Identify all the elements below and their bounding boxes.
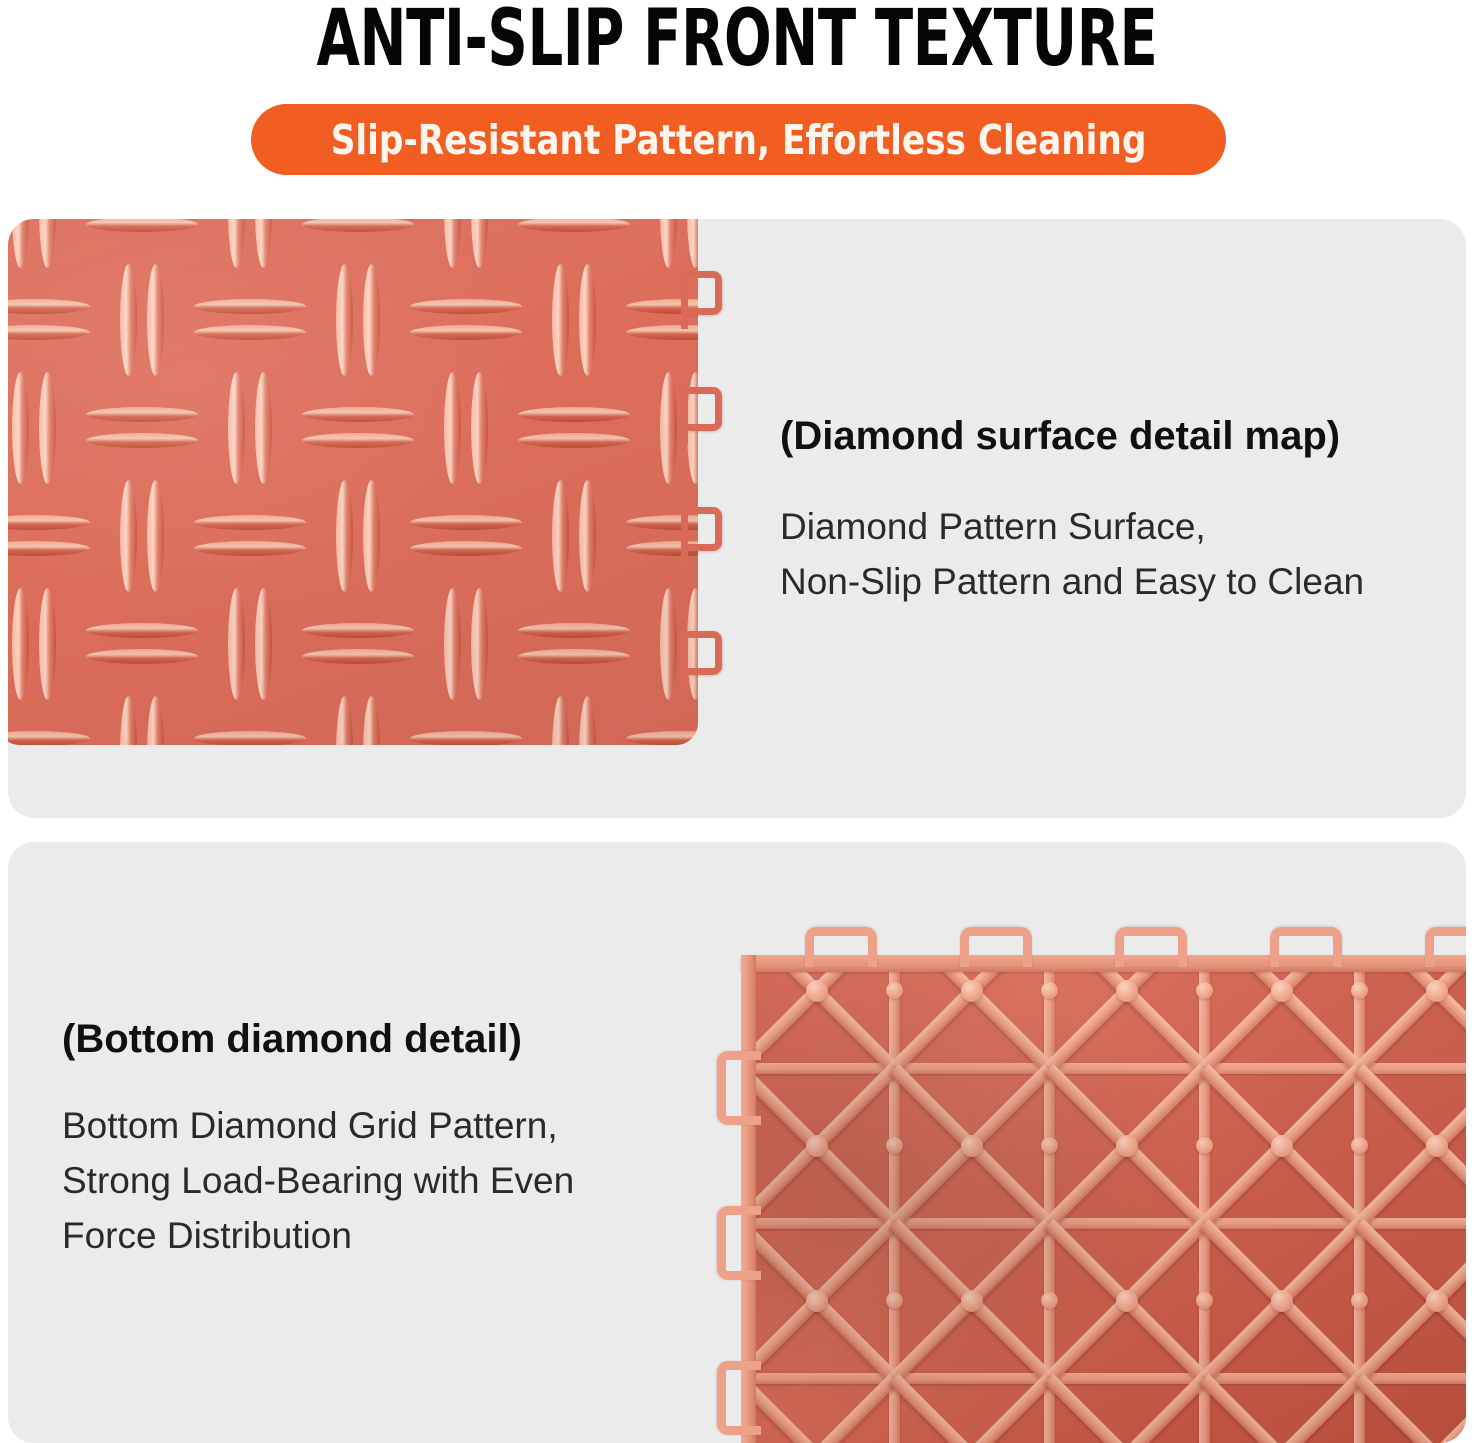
diamond-tread-icon	[12, 372, 29, 484]
diamond-tread-icon	[302, 433, 414, 448]
diamond-tread-pair	[12, 588, 56, 700]
diamond-tread-icon	[410, 325, 522, 340]
diamond-tread-icon	[39, 219, 56, 268]
grid-node	[1116, 1135, 1138, 1157]
diamond-tread-pair	[410, 731, 522, 745]
grid-node	[961, 1135, 983, 1157]
diamond-tread-icon	[86, 623, 198, 638]
diamond-tread-pair	[120, 696, 164, 745]
diamond-tread-icon	[194, 299, 306, 314]
grid-stud	[1351, 1137, 1368, 1154]
diamond-surface-description: Diamond Pattern Surface, Non-Slip Patter…	[780, 499, 1452, 609]
diamond-tread-pair	[120, 480, 164, 592]
diamond-tread-icon	[579, 264, 596, 376]
diamond-tread-pair	[302, 219, 414, 233]
diamond-tread-pair	[518, 219, 630, 233]
diamond-tread-icon	[471, 372, 488, 484]
diamond-surface-image	[8, 219, 698, 745]
diamond-tread-icon	[363, 480, 380, 592]
diamond-tread-icon	[471, 219, 488, 268]
grid-stud	[1196, 982, 1213, 999]
diamond-tread-icon	[228, 372, 245, 484]
bottom-diamond-description: Bottom Diamond Grid Pattern, Strong Load…	[62, 1098, 702, 1263]
diamond-tread-icon	[8, 325, 90, 340]
panel-diamond-surface: (Diamond surface detail map) Diamond Pat…	[8, 219, 1466, 818]
grid-node	[1271, 980, 1293, 1002]
grid-stud	[886, 1137, 903, 1154]
diamond-tread-pair	[228, 219, 272, 268]
diamond-tread-pair	[444, 219, 488, 268]
diamond-tread-icon	[363, 696, 380, 745]
diamond-tread-icon	[444, 219, 461, 268]
grid-stud	[1196, 1137, 1213, 1154]
grid-node	[1426, 980, 1448, 1002]
diamond-tread-pair	[86, 407, 198, 449]
connector-tab-icon	[688, 387, 722, 431]
diamond-surface-text-block: (Diamond surface detail map) Diamond Pat…	[780, 411, 1452, 609]
bottom-grid-pattern	[741, 971, 1466, 1443]
diamond-tread-icon	[518, 407, 630, 422]
diamond-tread-icon	[336, 696, 353, 745]
diamond-tread-icon	[410, 515, 522, 530]
grid-rib-diagonal	[889, 1373, 1053, 1443]
grid-stud	[1196, 1292, 1213, 1309]
grid-rib-diagonal	[1199, 1373, 1363, 1443]
connector-tab-icon	[688, 271, 722, 315]
grid-stud	[1351, 1292, 1368, 1309]
diamond-tread-icon	[518, 649, 630, 664]
diamond-tread-icon	[444, 372, 461, 484]
diamond-tread-icon	[302, 623, 414, 638]
description-line: Bottom Diamond Grid Pattern,	[62, 1098, 702, 1153]
diamond-tread-icon	[228, 219, 245, 268]
diamond-tread-icon	[12, 219, 29, 268]
grid-node	[806, 1135, 828, 1157]
diamond-tread-pair	[552, 480, 596, 592]
diamond-tread-icon	[518, 433, 630, 448]
connector-tab-icon	[717, 1361, 761, 1435]
bottom-diamond-heading: (Bottom diamond detail)	[62, 1014, 702, 1064]
diamond-tread-icon	[336, 264, 353, 376]
diamond-tread-icon	[120, 264, 137, 376]
connector-tab-icon	[688, 631, 722, 675]
diamond-tread-pair	[228, 588, 272, 700]
diamond-tread-pair	[8, 731, 90, 745]
diamond-tread-icon	[255, 372, 272, 484]
diamond-tread-icon	[228, 588, 245, 700]
diamond-tread-icon	[302, 649, 414, 664]
diamond-surface-heading: (Diamond surface detail map)	[780, 411, 1452, 461]
diamond-tread-icon	[255, 219, 272, 268]
connector-tab-icon	[717, 1206, 761, 1280]
diamond-tread-icon	[147, 696, 164, 745]
diamond-tread-icon	[147, 264, 164, 376]
diamond-tread-icon	[410, 731, 522, 745]
diamond-tread-icon	[8, 731, 90, 745]
grid-stud	[1041, 982, 1058, 999]
diamond-tread-pair	[336, 264, 380, 376]
diamond-tread-pair	[120, 264, 164, 376]
grid-rib-diagonal	[741, 1373, 899, 1443]
diamond-tread-icon	[626, 731, 698, 745]
diamond-tread-icon	[336, 480, 353, 592]
diamond-tread-pair	[444, 372, 488, 484]
grid-node	[806, 980, 828, 1002]
diamond-tread-icon	[363, 264, 380, 376]
diamond-tread-icon	[39, 372, 56, 484]
diamond-tread-pair	[336, 480, 380, 592]
diamond-tread-icon	[471, 588, 488, 700]
diamond-tread-icon	[12, 588, 29, 700]
grid-node	[1271, 1135, 1293, 1157]
grid-node	[961, 980, 983, 1002]
diamond-tread-icon	[552, 480, 569, 592]
connector-tab-icon	[960, 927, 1032, 967]
infographic-page: ANTI-SLIP FRONT TEXTURE Slip-Resistant P…	[0, 0, 1474, 1443]
grid-node	[961, 1290, 983, 1312]
grid-stud	[1041, 1137, 1058, 1154]
diamond-tread-icon	[302, 219, 414, 232]
description-line: Strong Load-Bearing with Even	[62, 1153, 702, 1208]
diamond-tread-icon	[194, 731, 306, 745]
diamond-tread-icon	[8, 515, 90, 530]
diamond-tread-icon	[86, 219, 198, 232]
header: ANTI-SLIP FRONT TEXTURE Slip-Resistant P…	[0, 0, 1474, 190]
diamond-plate-pattern	[8, 219, 698, 745]
diamond-tread-pair	[8, 299, 90, 341]
connector-tab-icon	[1270, 927, 1342, 967]
subtitle-banner-label: Slip-Resistant Pattern, Effortless Clean…	[331, 118, 1147, 162]
grid-rib-diagonal	[1044, 1373, 1208, 1443]
bottom-grid-image	[717, 927, 1466, 1443]
diamond-tread-icon	[8, 541, 90, 556]
diamond-tread-pair	[194, 299, 306, 341]
diamond-tread-pair	[518, 623, 630, 665]
diamond-tread-pair	[410, 299, 522, 341]
page-title: ANTI-SLIP FRONT TEXTURE	[147, 0, 1326, 82]
grid-node	[1271, 1290, 1293, 1312]
diamond-tread-icon	[302, 407, 414, 422]
diamond-tread-pair	[302, 623, 414, 665]
diamond-tread-icon	[579, 696, 596, 745]
diamond-tread-pair	[552, 696, 596, 745]
connector-tab-icon	[688, 507, 722, 551]
diamond-tread-pair	[8, 515, 90, 557]
diamond-tread-icon	[660, 372, 677, 484]
diamond-tread-pair	[86, 623, 198, 665]
diamond-tread-icon	[255, 588, 272, 700]
diamond-tread-icon	[194, 541, 306, 556]
grid-rib-diagonal	[1354, 971, 1466, 1073]
bottom-diamond-text-block: (Bottom diamond detail) Bottom Diamond G…	[62, 1014, 702, 1263]
description-line: Non-Slip Pattern and Easy to Clean	[780, 554, 1452, 609]
panel-bottom-diamond: (Bottom diamond detail) Bottom Diamond G…	[8, 842, 1466, 1443]
diamond-tread-pair	[12, 219, 56, 268]
diamond-tread-pair	[444, 588, 488, 700]
grid-stud	[886, 1292, 903, 1309]
diamond-tread-icon	[410, 299, 522, 314]
diamond-tread-icon	[518, 623, 630, 638]
diamond-tread-icon	[444, 588, 461, 700]
diamond-tread-pair	[336, 696, 380, 745]
diamond-tread-icon	[552, 696, 569, 745]
diamond-tread-pair	[410, 515, 522, 557]
diamond-tread-pair	[86, 219, 198, 233]
diamond-tread-icon	[660, 588, 677, 700]
grid-node	[1116, 1290, 1138, 1312]
grid-node	[806, 1290, 828, 1312]
connector-tab-icon	[717, 1051, 761, 1125]
grid-stud	[1351, 982, 1368, 999]
diamond-tread-icon	[410, 541, 522, 556]
diamond-tread-pair	[302, 407, 414, 449]
diamond-tread-pair	[518, 407, 630, 449]
connector-tab-icon	[1115, 927, 1187, 967]
diamond-tread-icon	[39, 588, 56, 700]
diamond-tread-icon	[660, 219, 677, 268]
diamond-tread-icon	[194, 325, 306, 340]
connector-tab-icon	[805, 927, 877, 967]
diamond-tread-icon	[8, 299, 90, 314]
grid-node	[1116, 980, 1138, 1002]
diamond-tread-pair	[660, 219, 698, 268]
diamond-tread-pair	[194, 731, 306, 745]
description-line: Diamond Pattern Surface,	[780, 499, 1452, 554]
diamond-tread-icon	[687, 219, 698, 268]
diamond-tread-pair	[194, 515, 306, 557]
diamond-tread-icon	[86, 433, 198, 448]
diamond-tread-icon	[86, 649, 198, 664]
diamond-tread-icon	[86, 407, 198, 422]
diamond-tread-pair	[12, 372, 56, 484]
grid-stud	[1041, 1292, 1058, 1309]
diamond-tread-pair	[228, 372, 272, 484]
diamond-tread-pair	[626, 731, 698, 745]
diamond-tread-icon	[579, 480, 596, 592]
grid-node	[1426, 1135, 1448, 1157]
diamond-tread-icon	[147, 480, 164, 592]
description-line: Force Distribution	[62, 1208, 702, 1263]
subtitle-banner: Slip-Resistant Pattern, Effortless Clean…	[251, 104, 1226, 175]
connector-tab-icon	[1425, 927, 1466, 967]
diamond-tread-icon	[194, 515, 306, 530]
diamond-tread-icon	[120, 696, 137, 745]
diamond-tread-icon	[120, 480, 137, 592]
grid-stud	[886, 982, 903, 999]
diamond-tread-pair	[552, 264, 596, 376]
diamond-tread-icon	[552, 264, 569, 376]
grid-node	[1426, 1290, 1448, 1312]
diamond-tread-icon	[518, 219, 630, 232]
